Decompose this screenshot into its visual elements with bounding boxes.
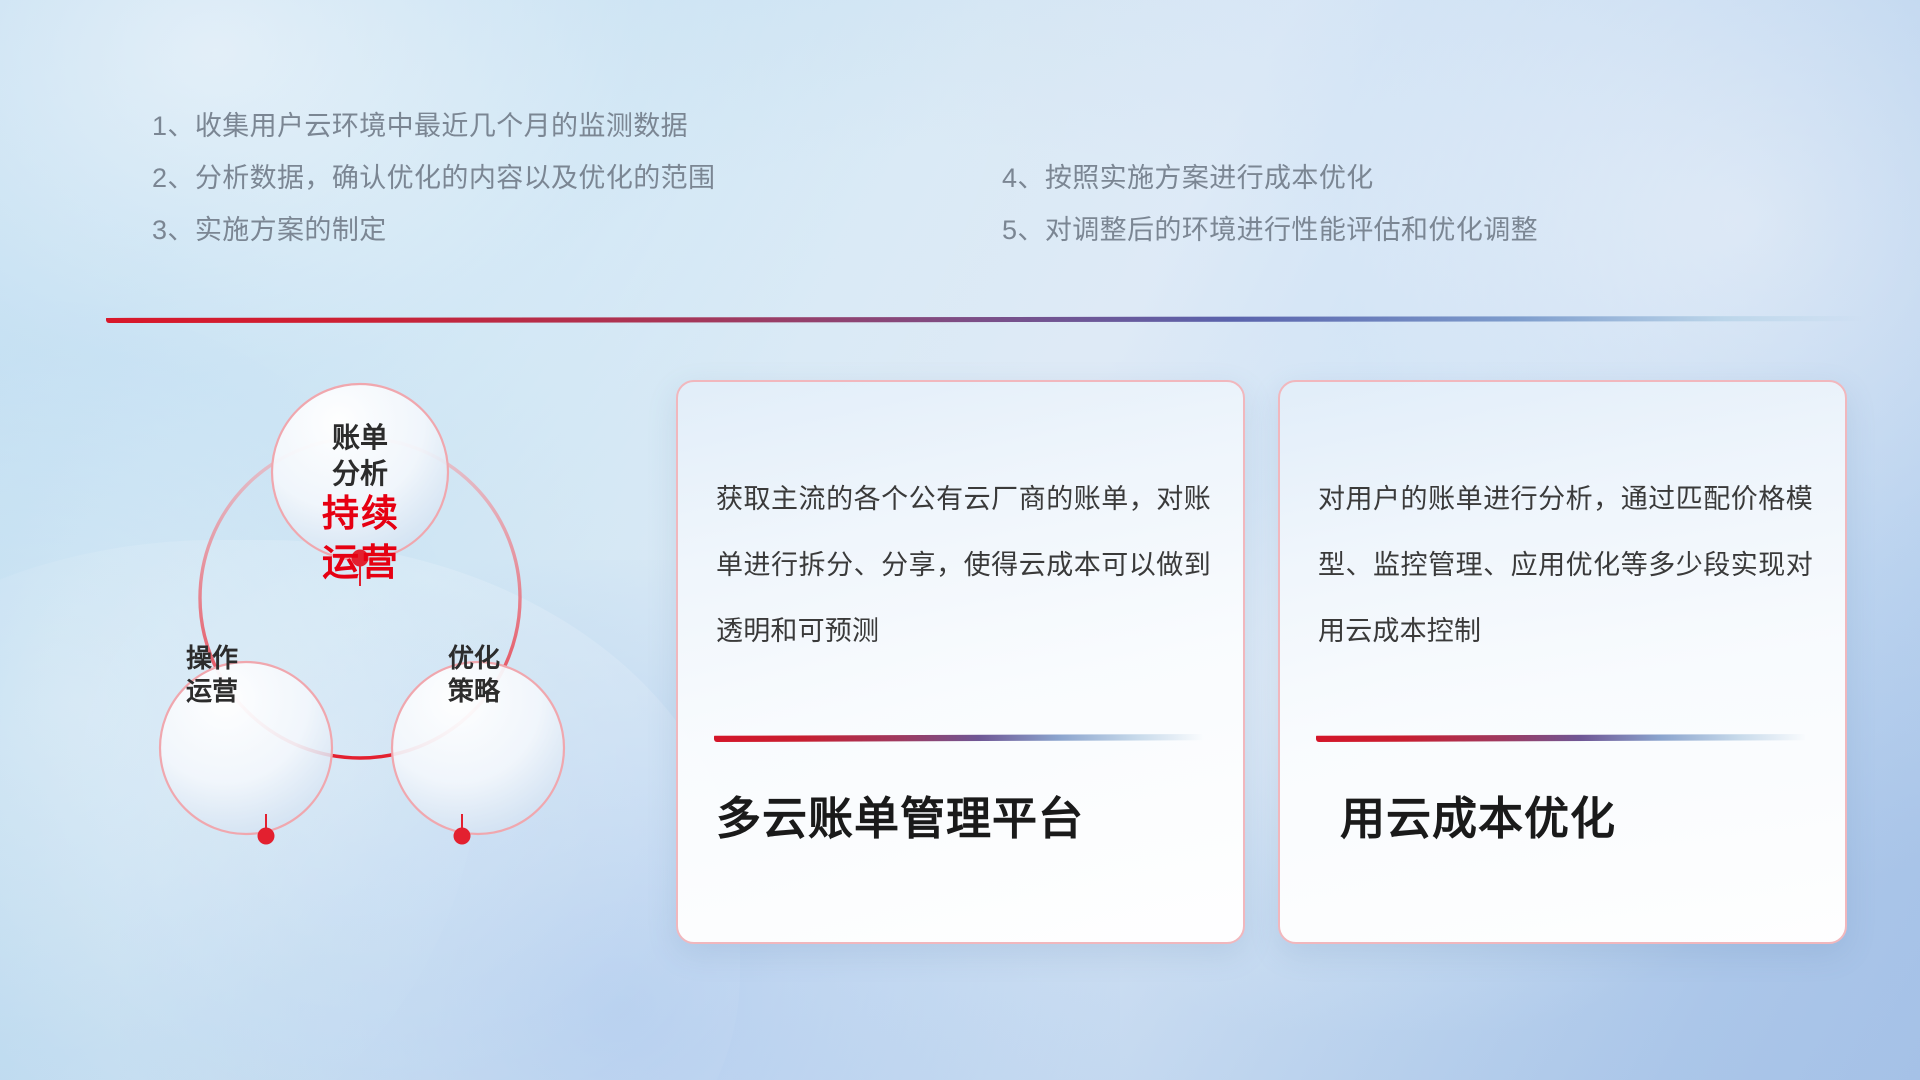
card-multi-cloud-billing-platform[interactable]: 获取主流的各个公有云厂商的账单，对账单进行拆分、分享，使得云成本可以做到透明和可…: [676, 380, 1245, 944]
venn-svg: [96, 350, 616, 950]
header-divider-bar: [106, 316, 1866, 323]
card-divider-bar: [714, 734, 1204, 742]
steps-list-right: 4、按照实施方案进行成本优化 5、对调整后的环境进行性能评估和优化调整: [1002, 152, 1538, 256]
venn-circle-operations: [160, 662, 332, 834]
card-body-text: 获取主流的各个公有云厂商的账单，对账单进行拆分、分享，使得云成本可以做到透明和可…: [716, 466, 1211, 664]
step-item-3: 3、实施方案的制定: [152, 204, 715, 256]
venn-circle-bill-analysis: [272, 384, 448, 560]
header-divider: [106, 316, 1866, 323]
card-divider: [714, 734, 1204, 742]
step-item-2: 2、分析数据，确认优化的内容以及优化的范围: [152, 152, 715, 204]
venn-dot-left: [258, 828, 275, 845]
card-cloud-cost-optimization[interactable]: 对用户的账单进行分析，通过匹配价格模型、监控管理、应用优化等多少段实现对用云成本…: [1278, 380, 1847, 944]
venn-dot-right: [454, 828, 471, 845]
card-divider-bar: [1316, 734, 1806, 742]
slide-canvas: 1、收集用户云环境中最近几个月的监测数据 2、分析数据，确认优化的内容以及优化的…: [0, 0, 1920, 1080]
card-title: 多云账单管理平台: [716, 782, 1223, 847]
venn-dot-top: [352, 550, 369, 567]
step-item-5: 5、对调整后的环境进行性能评估和优化调整: [1002, 204, 1538, 256]
venn-circle-optimization: [392, 662, 564, 834]
card-divider: [1316, 734, 1806, 742]
card-body-text: 对用户的账单进行分析，通过匹配价格模型、监控管理、应用优化等多少段实现对用云成本…: [1318, 466, 1813, 664]
venn-diagram: 账单 分析 操作 运营 优化 策略 持续 运营: [96, 350, 616, 950]
steps-list-left: 1、收集用户云环境中最近几个月的监测数据 2、分析数据，确认优化的内容以及优化的…: [152, 100, 715, 256]
card-title: 用云成本优化: [1340, 782, 1825, 847]
step-item-1: 1、收集用户云环境中最近几个月的监测数据: [152, 100, 715, 152]
step-item-4: 4、按照实施方案进行成本优化: [1002, 152, 1538, 204]
